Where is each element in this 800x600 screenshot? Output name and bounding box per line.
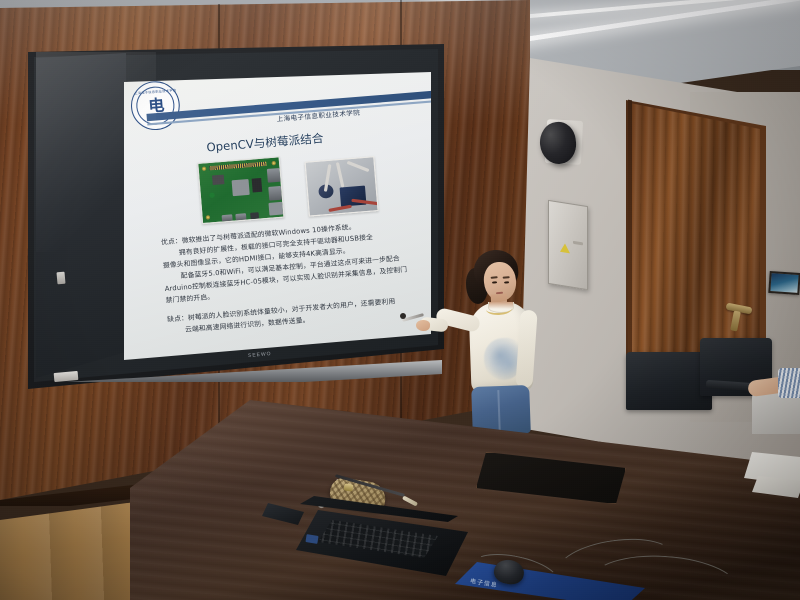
pi-mount-hole — [271, 161, 276, 166]
jumper-wire — [336, 162, 345, 188]
pointer-tip-icon — [400, 313, 406, 319]
pi-ram-chip — [252, 178, 263, 193]
framed-picture — [768, 271, 800, 295]
panel-handle[interactable] — [573, 241, 583, 246]
presenter-eyebrow — [491, 276, 498, 278]
pi-soc-chip — [232, 179, 250, 196]
presenter-eye — [504, 281, 509, 284]
audience-member-striped-sleeve — [778, 368, 800, 398]
classroom-photo: 上海电子信息职业技术学院 电 1960 上海电子信息职业技术学院 OpenCV与… — [0, 0, 800, 600]
presenter-eyebrow — [503, 276, 510, 278]
slide-merits-block: 优点：微软推出了与树莓派适配的微软Windows 10操作系统。 拥有良好的扩展… — [161, 216, 431, 307]
merits-label: 优点： — [161, 236, 182, 246]
display-power-button[interactable] — [56, 272, 65, 285]
display-dark-area — [36, 52, 126, 378]
laptop-brand-badge — [305, 534, 318, 544]
pi-hdmi-port — [235, 213, 246, 220]
door-edge — [628, 100, 632, 363]
power-wire — [328, 205, 352, 212]
arduino-module — [340, 186, 367, 207]
presenter — [418, 250, 548, 430]
arduino-wiring-image — [305, 156, 379, 217]
electrical-panel[interactable] — [548, 200, 588, 290]
warning-triangle-icon — [560, 243, 570, 254]
slide-title: OpenCV与树莓派结合 — [206, 129, 324, 155]
raspberry-pi-image — [197, 156, 284, 224]
presenter-left-hand — [416, 320, 431, 332]
demerits-label: 缺点： — [167, 314, 188, 324]
pi-ethernet-port — [268, 202, 283, 216]
pi-usb-port — [267, 168, 281, 183]
presenter-eye — [492, 281, 497, 284]
pi-mount-hole — [206, 215, 211, 220]
jumper-wire — [347, 161, 370, 172]
pi-hdmi-port — [222, 214, 233, 221]
pi-audio-jack — [250, 212, 259, 219]
presentation-slide: 上海电子信息职业技术学院 电 1960 上海电子信息职业技术学院 OpenCV与… — [124, 72, 431, 360]
pi-logo — [209, 192, 215, 198]
pi-mount-hole — [202, 166, 207, 171]
pi-gpio-header — [209, 162, 266, 171]
handbag-clasp-icon — [344, 483, 354, 491]
pi-usb-port — [268, 186, 282, 201]
pi-usbc-chip — [212, 175, 224, 185]
